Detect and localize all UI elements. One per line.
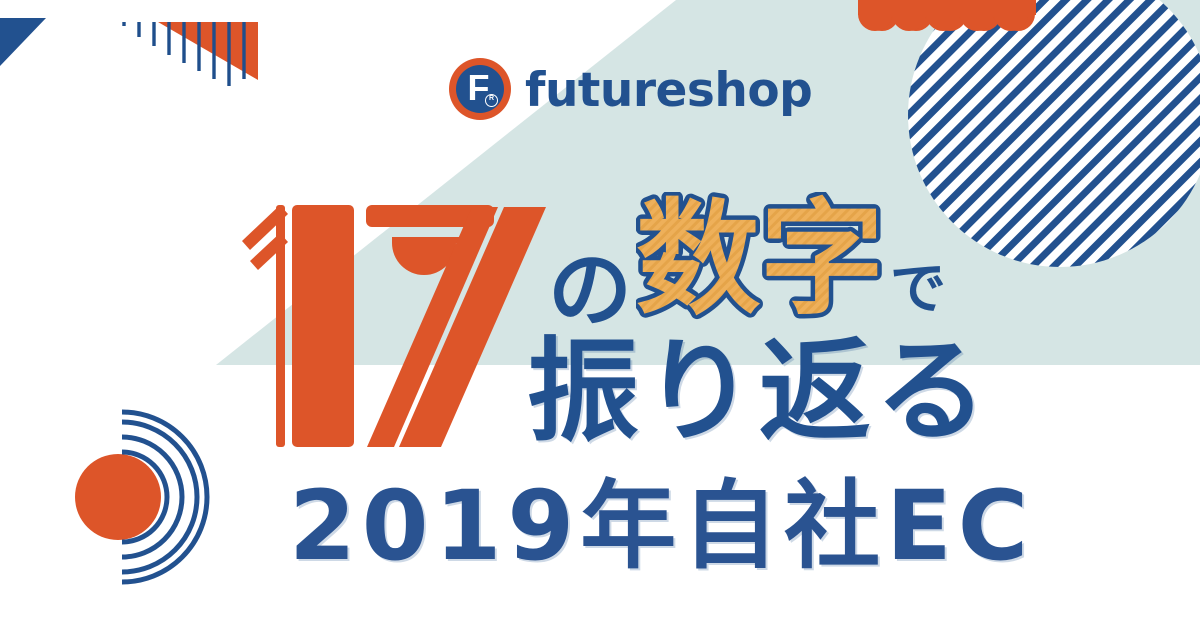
corner-triangle-top-left	[0, 18, 46, 66]
orange-scallop-top-right	[858, 0, 1036, 31]
brand-wordmark: futureshop	[525, 67, 812, 114]
logo-inner-disc: F R	[456, 65, 504, 113]
banner-canvas: F R futureshop	[0, 0, 1200, 630]
registered-mark-icon: R	[485, 94, 498, 107]
orange-dot-bottom-left	[75, 454, 161, 540]
futureshop-logo-icon: F R	[449, 58, 511, 120]
brand-lockup: F R futureshop	[449, 58, 812, 120]
